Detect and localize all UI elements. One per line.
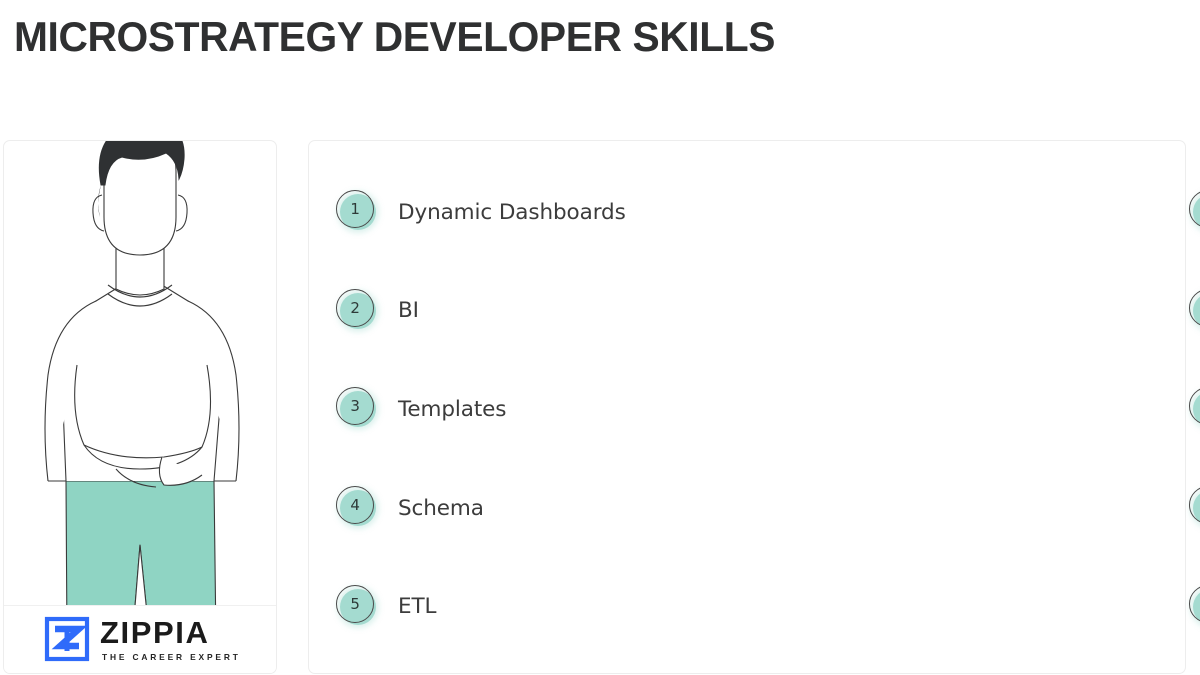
zippia-wordmark: ZIPPIA (100, 617, 241, 648)
skill-item-6[interactable]: 6 SQL Server (739, 163, 1200, 262)
skill-number-badge: 6 (1189, 190, 1200, 234)
badge-number: 5 (336, 585, 374, 623)
badge-number: 3 (336, 387, 374, 425)
skill-number-badge: 9 (1189, 486, 1200, 530)
skill-item-4[interactable]: 4 Schema (309, 459, 739, 558)
zippia-z-mark-icon (44, 616, 90, 662)
badge-number: 6 (1189, 190, 1200, 228)
page-title: MICROSTRATEGY DEVELOPER SKILLS (14, 13, 775, 61)
logo-plate: ZIPPIA THE CAREER EXPERT (4, 605, 276, 673)
skill-item-2[interactable]: 2 BI (309, 262, 739, 361)
skill-label: BI (398, 298, 419, 323)
skill-number-badge: 3 (336, 387, 380, 431)
badge-number: 9 (1189, 486, 1200, 524)
badge-number: 7 (1189, 289, 1200, 327)
skills-card: 1 Dynamic Dashboards 6 SQL Server 2 BI (308, 140, 1186, 674)
skill-label: Schema (398, 496, 484, 521)
skill-label: Templates (398, 397, 506, 422)
skill-label: Dynamic Dashboards (398, 200, 626, 225)
skill-item-7[interactable]: 7 Data Analysis (739, 262, 1200, 361)
illustration-card: ZIPPIA THE CAREER EXPERT (3, 140, 277, 674)
zippia-logo[interactable]: ZIPPIA THE CAREER EXPERT (44, 616, 241, 662)
skills-list: 1 Dynamic Dashboards 6 SQL Server 2 BI (309, 141, 1185, 673)
zippia-tagline: THE CAREER EXPERT (102, 653, 241, 661)
skill-item-1[interactable]: 1 Dynamic Dashboards (309, 163, 739, 262)
skill-number-badge: 4 (336, 486, 380, 530)
skill-item-5[interactable]: 5 ETL (309, 557, 739, 656)
badge-number: 1 (336, 190, 374, 228)
skill-number-badge: 7 (1189, 289, 1200, 333)
badge-number: 10 (1189, 585, 1200, 623)
skill-number-badge: 10 (1189, 585, 1200, 629)
badge-number: 4 (336, 486, 374, 524)
skill-number-badge: 8 (1189, 387, 1200, 431)
skill-item-10[interactable]: 10 Teradata (739, 557, 1200, 656)
skill-number-badge: 1 (336, 190, 380, 234)
skill-number-badge: 5 (336, 585, 380, 629)
skill-item-8[interactable]: 8 PL/SQL (739, 360, 1200, 459)
skill-number-badge: 2 (336, 289, 380, 333)
skill-item-9[interactable]: 9 Data Warehouse (739, 459, 1200, 558)
badge-number: 8 (1189, 387, 1200, 425)
skill-label: ETL (398, 594, 436, 619)
person-arms-crossed-illustration (4, 140, 277, 643)
skill-item-3[interactable]: 3 Templates (309, 360, 739, 459)
badge-number: 2 (336, 289, 374, 327)
